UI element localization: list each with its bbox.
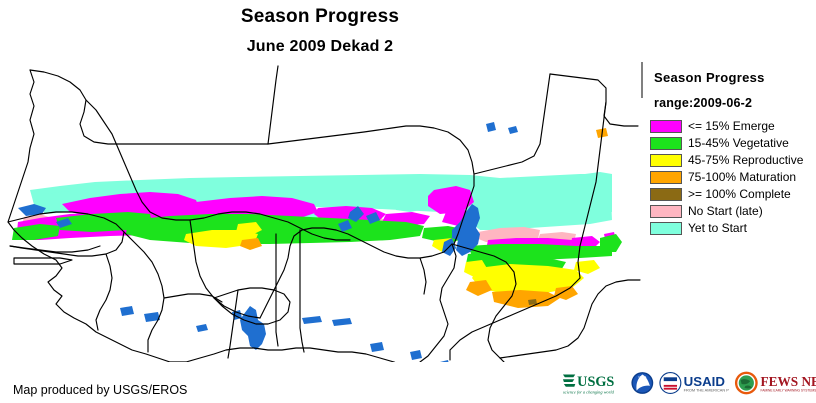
svg-text:science for a changing world: science for a changing world — [563, 389, 615, 394]
legend-entry-list: <= 15% Emerge 15-45% Vegetative 45-75% R… — [650, 118, 816, 236]
svg-text:FROM THE AMERICAN PEOPLE: FROM THE AMERICAN PEOPLE — [684, 388, 730, 393]
legend-title: Season Progress — [654, 70, 816, 85]
legend-entry-vegetative[interactable]: 15-45% Vegetative — [650, 135, 816, 151]
legend-swatch-complete — [650, 188, 682, 201]
legend-label-yet-to-start: Yet to Start — [688, 222, 747, 234]
svg-text:FAMINE EARLY WARNING SYSTEMS N: FAMINE EARLY WARNING SYSTEMS NETWORK — [761, 389, 816, 393]
legend-label-emerge: <= 15% Emerge — [688, 120, 775, 132]
legend-label-vegetative: 15-45% Vegetative — [688, 137, 789, 149]
svg-text:NOAA: NOAA — [638, 375, 646, 379]
legend-swatch-reproductive — [650, 154, 682, 167]
legend-entry-complete[interactable]: >= 100% Complete — [650, 186, 816, 202]
legend-swatch-emerge — [650, 120, 682, 133]
legend-label-reproductive: 45-75% Reproductive — [688, 154, 803, 166]
agency-logo-strip: USGS science for a changing world NOAA U… — [562, 367, 816, 399]
page-subtitle: June 2009 Dekad 2 — [0, 26, 640, 55]
map-credit: Map produced by USGS/EROS — [13, 383, 187, 397]
legend-label-complete: >= 100% Complete — [688, 188, 791, 200]
svg-text:FEWS NET: FEWS NET — [761, 374, 816, 389]
legend-swatch-vegetative — [650, 137, 682, 150]
legend-entry-maturation[interactable]: 75-100% Maturation — [650, 169, 816, 185]
usgs-logo[interactable]: USGS science for a changing world — [562, 370, 625, 396]
fewsnet-logo[interactable]: FEWS NET FAMINE EARLY WARNING SYSTEMS NE… — [734, 369, 816, 397]
legend-panel: Season Progress range:2009-06-2 <= 15% E… — [650, 70, 816, 237]
legend-entry-reproductive[interactable]: 45-75% Reproductive — [650, 152, 816, 168]
svg-text:USAID: USAID — [684, 374, 726, 389]
legend-label-maturation: 75-100% Maturation — [688, 171, 796, 183]
usaid-logo[interactable]: USAID FROM THE AMERICAN PEOPLE — [659, 370, 729, 396]
west-africa-sahel-map[interactable] — [0, 62, 644, 362]
legend-swatch-yet-to-start — [650, 222, 682, 235]
legend-entry-emerge[interactable]: <= 15% Emerge — [650, 118, 816, 134]
map-canvas[interactable] — [0, 62, 644, 362]
title-block: Season Progress June 2009 Dekad 2 — [0, 0, 640, 55]
legend-entry-no-start[interactable]: No Start (late) — [650, 203, 816, 219]
season-progress-map-page: Season Progress June 2009 Dekad 2 — [0, 0, 816, 403]
legend-swatch-no-start — [650, 205, 682, 218]
legend-entry-yet-to-start[interactable]: Yet to Start — [650, 220, 816, 236]
legend-label-no-start: No Start (late) — [688, 205, 763, 217]
noaa-logo[interactable]: NOAA — [630, 370, 655, 396]
legend-range: range:2009-06-2 — [654, 96, 816, 110]
svg-text:USGS: USGS — [577, 374, 614, 390]
legend-swatch-maturation — [650, 171, 682, 184]
page-title: Season Progress — [0, 0, 640, 26]
